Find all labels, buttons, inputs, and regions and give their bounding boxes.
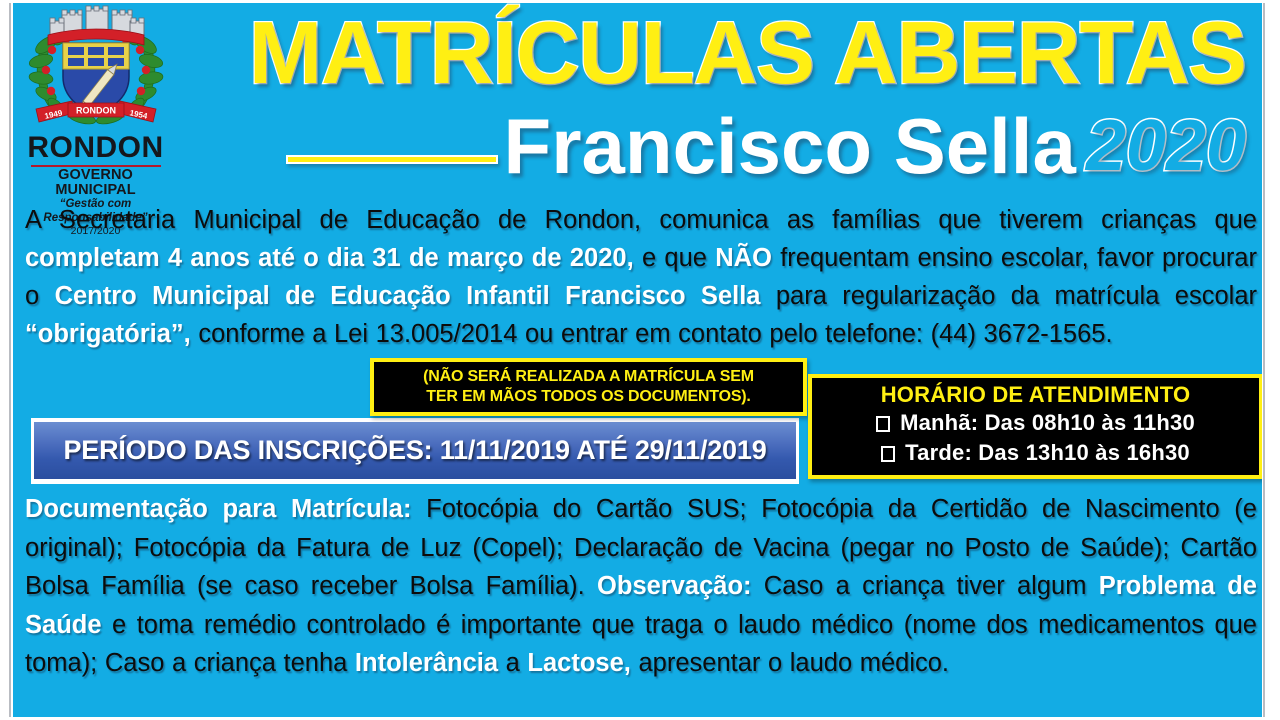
frame-top-edge <box>0 0 1280 3</box>
crest-ribbon-center-label: RONDON <box>76 106 116 116</box>
notice-line-2: TER EM MÃOS TODOS OS DOCUMENTOS). <box>423 387 754 407</box>
checkbox-icon <box>881 446 895 462</box>
school-year: 2020 <box>1086 110 1246 182</box>
schedule-item-afternoon: Tarde: Das 13h10 às 16h30 <box>812 438 1259 468</box>
registration-period-bar: PERÍODO DAS INSCRIÇÕES: 11/11/2019 ATÉ 2… <box>34 422 796 479</box>
frame-left-edge <box>0 0 11 720</box>
schedule-morning-label: Manhã: <box>900 410 978 435</box>
school-name: Francisco Sella <box>504 107 1076 185</box>
notice-text: (NÃO SERÁ REALIZADA A MATRÍCULA SEM TER … <box>423 367 754 407</box>
schedule-item-morning: Manhã: Das 08h10 às 11h30 <box>812 408 1259 438</box>
coat-of-arms-icon: RONDON 1949 1954 <box>22 5 170 137</box>
municipality-logo: RONDON 1949 1954 RONDON GOVERNO MUNICIPA… <box>18 5 173 201</box>
logo-municipality-name: RONDON <box>18 133 173 163</box>
schedule-afternoon-label: Tarde: <box>905 440 972 465</box>
schedule-title: HORÁRIO DE ATENDIMENTO <box>812 382 1259 408</box>
documentation-paragraph: Documentação para Matrícula: Fotocópia d… <box>25 490 1257 683</box>
schedule-morning-value: Das 08h10 às 11h30 <box>985 410 1195 435</box>
header-subtitle-row: Francisco Sella 2020 <box>286 103 1246 189</box>
header-title-zone: MATRÍCULAS ABERTAS Francisco Sella 2020 <box>175 3 1254 199</box>
poster-root: RONDON 1949 1954 RONDON GOVERNO MUNICIPA… <box>0 0 1280 720</box>
notice-box: (NÃO SERÁ REALIZADA A MATRÍCULA SEM TER … <box>370 358 807 416</box>
title-rule-divider <box>286 155 498 164</box>
schedule-box: HORÁRIO DE ATENDIMENTO Manhã: Das 08h10 … <box>808 374 1262 479</box>
poster-canvas: RONDON 1949 1954 RONDON GOVERNO MUNICIPA… <box>13 3 1262 717</box>
registration-period-banner: PERÍODO DAS INSCRIÇÕES: 11/11/2019 ATÉ 2… <box>31 418 799 484</box>
intro-paragraph: A Secretaria Municipal de Educação de Ro… <box>25 201 1257 353</box>
checkbox-icon <box>876 416 890 432</box>
frame-right-edge <box>1263 0 1280 720</box>
notice-line-1: (NÃO SERÁ REALIZADA A MATRÍCULA SEM <box>423 367 754 387</box>
logo-government-label: GOVERNO MUNICIPAL <box>18 168 173 198</box>
schedule-afternoon-value: Das 13h10 às 16h30 <box>978 440 1190 465</box>
registration-period-text: PERÍODO DAS INSCRIÇÕES: 11/11/2019 ATÉ 2… <box>63 435 766 466</box>
page-title: MATRÍCULAS ABERTAS <box>249 9 1246 97</box>
